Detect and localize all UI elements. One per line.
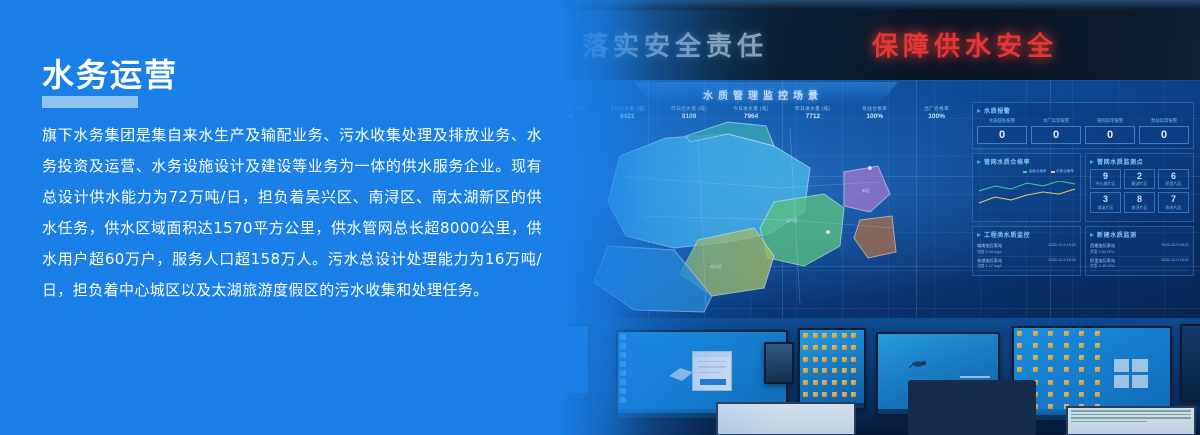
- legend-item: 浊度合格率: [1023, 169, 1046, 174]
- desktop-icon-grid: [803, 333, 858, 402]
- monitor-point-label: 埭溪片区: [1091, 205, 1120, 211]
- qualification-chart: 浊度合格率 余氯合格率: [977, 169, 1076, 217]
- monitor-point-cell: 9 中心城片区: [1090, 169, 1121, 189]
- desktop-icon-column: [620, 334, 630, 414]
- dashboard-mid-row: 管网水质合格率 浊度合格率 余氯合格率: [972, 153, 1194, 222]
- monitor-points-panel: 管网水质监测点 9 中心城片区 2 菱湖片区: [1085, 153, 1194, 222]
- alarm-cell-label: 水厂异常报警: [1031, 118, 1081, 124]
- monitor-points-grid: 9 中心城片区 2 菱湖片区 6 织里片区: [1090, 169, 1189, 213]
- log-metric: 浊度 0.34 mg/L: [977, 250, 1045, 255]
- qualification-panel-header: 管网水质合格率: [977, 157, 1076, 166]
- work-log-list: 城南加压泵站 浊度 0.34 mg/L 2022-11-9 18:22 东部加压…: [977, 242, 1076, 271]
- log-site: 西塞加压泵站: [1090, 243, 1158, 249]
- monitor-point-value: 3: [1091, 195, 1120, 204]
- map-label-xinqu: 新区: [862, 187, 870, 193]
- triangle-icon: [1090, 160, 1094, 164]
- intro-paragraph: 旗下水务集团是集自来水生产及输配业务、污水收集处理及排放业务、水务投资及运营、水…: [42, 120, 542, 306]
- log-time: 2022-11-9 18:21: [1158, 243, 1189, 247]
- monitor-point-cell: 3 埭溪片区: [1090, 192, 1121, 212]
- flag-logo-icon: [668, 366, 694, 384]
- banner-root: 落实安全责任 保障供水安全 水质管理监控场景 今日供水总量 (万吨) 12.86: [0, 0, 1200, 435]
- workstation-desk: [520, 318, 1200, 435]
- dashboard-right-column: 水质报警 水质超标报警 0 水厂异常报警 0 管网异常报警: [972, 102, 1194, 276]
- log-row: 西塞加压泵站 余氯 0.54 NTU 2022-11-9 18:21: [1090, 242, 1189, 257]
- map-marker: [826, 230, 830, 234]
- led-banner: 落实安全责任 保障供水安全: [520, 0, 1200, 82]
- monitor-point-label: 菱湖片区: [1125, 181, 1154, 187]
- monitor-right-edge-screen: [1182, 326, 1200, 400]
- ocean-caption-line: [960, 376, 990, 378]
- laptop-right: [1066, 406, 1196, 435]
- monitor-point-label: 织里片区: [1159, 181, 1188, 187]
- monitor-right-edge: [1180, 324, 1200, 402]
- led-banner-right-text: 保障供水安全: [872, 26, 1058, 63]
- triangle-icon: [977, 233, 981, 237]
- monitor-point-label: 练市片区: [1159, 205, 1188, 211]
- control-room-photo: 落实安全责任 保障供水安全 水质管理监控场景 今日供水总量 (万吨) 12.86: [520, 0, 1200, 435]
- chair-silhouette: [908, 380, 1036, 435]
- alarm-panel-header: 水质报警: [977, 106, 1189, 115]
- map-region-kaifaqu: [854, 216, 896, 258]
- monitor-point-label: 中心城片区: [1091, 181, 1120, 187]
- log-row: 东部加压泵站 浊度 1.17 mg/L 2022-11-9 18:22: [977, 257, 1076, 272]
- log-time: 2022-11-9 18:21: [1158, 258, 1189, 262]
- laptop-spreadsheet: [716, 402, 856, 435]
- alarm-cell: 泵站异常报警 0: [1139, 118, 1189, 144]
- kpi-label: 昨日出水量 (吨): [660, 106, 719, 112]
- led-banner-left-text: 落实安全责任: [582, 26, 768, 63]
- log-site: 织里加压泵站: [1090, 258, 1158, 264]
- alarm-cell-label: 泵站异常报警: [1139, 118, 1189, 124]
- map-label-nanxun: 南浔区: [710, 263, 722, 269]
- map-label-wuxing: 吴兴区: [786, 217, 798, 223]
- site-panel: 新建水质监测 西塞加压泵站 余氯 0.54 NTU 2022-11-9 18:2…: [1085, 226, 1194, 276]
- monitor-point-cell: 8 南浔片区: [1124, 192, 1155, 212]
- alarm-panel: 水质报警 水质超标报警 0 水厂异常报警 0 管网异常报警: [972, 102, 1194, 149]
- monitor-point-value: 7: [1159, 195, 1188, 204]
- kpi-label: 出厂合格率: [907, 106, 966, 112]
- log-site: 城南加压泵站: [977, 243, 1045, 249]
- alarm-cell-value: 0: [1139, 126, 1189, 144]
- kpi-label: 泵站合格率: [845, 106, 904, 112]
- alarm-cell: 水厂异常报警 0: [1031, 118, 1081, 144]
- monitor-points-header: 管网水质监测点: [1090, 157, 1189, 166]
- qualification-panel-title: 管网水质合格率: [984, 157, 1030, 166]
- alarm-cell-label: 管网异常报警: [1085, 118, 1135, 124]
- work-panel-header: 工程类水质监控: [977, 230, 1076, 239]
- map-marker: [868, 166, 872, 170]
- alarm-cell-value: 0: [977, 126, 1027, 144]
- intro-body: 旗下水务集团是集自来水生产及输配业务、污水收集处理及排放业务、水务投资及运营、水…: [42, 120, 542, 306]
- qualification-sparkline: [977, 181, 1077, 215]
- intro-panel: 水务运营 旗下水务集团是集自来水生产及输配业务、污水收集处理及排放业务、水务投资…: [0, 0, 560, 435]
- alarm-cell-value: 0: [1031, 126, 1081, 144]
- monitor-icon-grid-screen: [800, 330, 864, 408]
- log-time: 2022-11-9 18:22: [1045, 258, 1076, 262]
- site-panel-title: 新建水质监测: [1097, 230, 1137, 239]
- monitor-icon-grid: [798, 328, 866, 410]
- dialog-primary-button[interactable]: [700, 379, 726, 385]
- laptop-screen: [718, 404, 854, 434]
- log-metric: 余氯 0.54 NTU: [1090, 250, 1158, 255]
- chart-legend: 浊度合格率 余氯合格率: [1023, 169, 1074, 174]
- monitor-points-title: 管网水质监测点: [1097, 157, 1143, 166]
- region-map-svg: 吴兴区 南浔区 新区: [578, 116, 908, 316]
- video-wall-dashboard: 水质管理监控场景 今日供水总量 (万吨) 12.86 今日出水量 (吨) 842…: [520, 80, 1200, 322]
- log-metric: 余氯 0.49 NTU: [1090, 264, 1158, 269]
- site-panel-header: 新建水质监测: [1090, 230, 1189, 239]
- page-title: 水务运营: [42, 50, 178, 96]
- monitor-point-cell: 2 菱湖片区: [1124, 169, 1155, 189]
- kpi-label: 今日出水量 (吨): [598, 106, 657, 112]
- alarm-grid: 水质超标报警 0 水厂异常报警 0 管网异常报警 0 泵站异常报警: [977, 118, 1189, 144]
- monitor-point-cell: 6 织里片区: [1158, 169, 1189, 189]
- log-time: 2022-11-9 18:22: [1045, 243, 1076, 247]
- monitor-point-cell: 7 练市片区: [1158, 192, 1189, 212]
- alarm-cell: 管网异常报警 0: [1085, 118, 1135, 144]
- dashboard-bottom-row: 工程类水质监控 城南加压泵站 浊度 0.34 mg/L 2022-11-9 18…: [972, 226, 1194, 276]
- legend-item: 余氯合格率: [1051, 169, 1074, 174]
- alarm-cell: 水质超标报警 0: [977, 118, 1027, 144]
- alarm-cell-value: 0: [1085, 126, 1135, 144]
- site-log-list: 西塞加压泵站 余氯 0.54 NTU 2022-11-9 18:21 织里加压泵…: [1090, 242, 1189, 271]
- diver-icon: [909, 355, 935, 373]
- kpi-value: 100%: [907, 113, 966, 120]
- log-metric: 浊度 1.17 mg/L: [977, 264, 1045, 269]
- triangle-icon: [977, 109, 981, 113]
- dashboard-title: 水质管理监控场景: [638, 87, 888, 102]
- triangle-icon: [977, 160, 981, 164]
- dialog-titlebar: [693, 352, 731, 357]
- kpi-label: 今日进水量 (吨): [722, 106, 781, 112]
- triangle-icon: [1090, 233, 1094, 237]
- work-panel-title: 工程类水质监控: [984, 230, 1030, 239]
- alarm-cell-label: 水质超标报警: [977, 118, 1027, 124]
- alarm-panel-title: 水质报警: [984, 106, 1010, 115]
- region-map: 吴兴区 南浔区 新区: [578, 116, 908, 316]
- qualification-panel: 管网水质合格率 浊度合格率 余氯合格率: [972, 153, 1081, 222]
- work-panel: 工程类水质监控 城南加压泵站 浊度 0.34 mg/L 2022-11-9 18…: [972, 226, 1081, 276]
- title-underline-bar: [42, 96, 138, 108]
- monitor-dark-narrow: [764, 342, 794, 384]
- log-site: 东部加压泵站: [977, 258, 1045, 264]
- led-banner-sheen: [520, 0, 1200, 10]
- monitor-dark-screen: [766, 344, 792, 382]
- installer-dialog: [692, 351, 732, 391]
- legend-label: 浊度合格率: [1029, 169, 1047, 174]
- log-row: 城南加压泵站 浊度 0.34 mg/L 2022-11-9 18:22: [977, 242, 1076, 257]
- laptop-right-screen: [1068, 408, 1194, 434]
- monitor-point-label: 南浔片区: [1125, 205, 1154, 211]
- legend-label: 余氯合格率: [1056, 169, 1074, 174]
- monitor-point-value: 8: [1125, 195, 1154, 204]
- kpi-item: 出厂合格率 100%: [907, 106, 966, 120]
- windows-logo-icon: [1114, 359, 1148, 389]
- kpi-label: 昨日进水量 (吨): [783, 106, 842, 112]
- log-row: 织里加压泵站 余氯 0.49 NTU 2022-11-9 18:21: [1090, 257, 1189, 272]
